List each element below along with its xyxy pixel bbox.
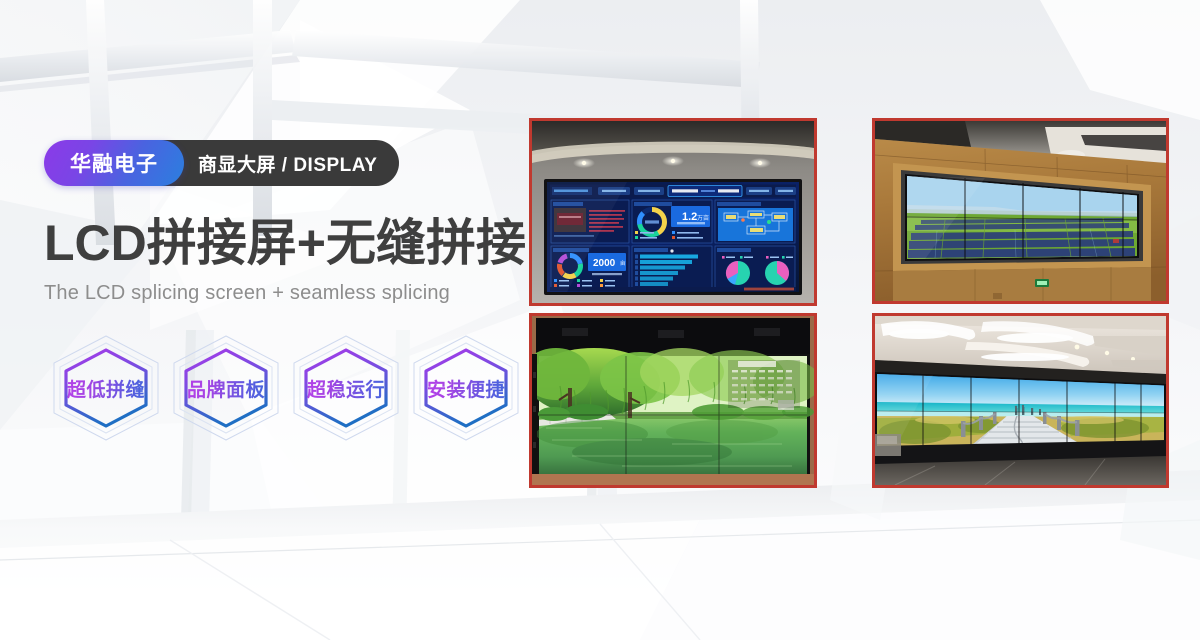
gallery-photo-park-wall bbox=[529, 313, 817, 488]
solar-wall-illustration bbox=[875, 121, 1166, 301]
dashboard-kpi-primary: 1.2 bbox=[682, 211, 697, 223]
feature-badge-label: 品牌面板 bbox=[168, 332, 284, 444]
feature-badge-label: 超低拼缝 bbox=[48, 332, 164, 444]
feature-badge: 安装便捷 bbox=[408, 332, 524, 444]
feature-badge-label: 超稳运行 bbox=[288, 332, 404, 444]
feature-badge: 品牌面板 bbox=[168, 332, 284, 444]
feature-badge: 超低拼缝 bbox=[48, 332, 164, 444]
park-wall-illustration bbox=[532, 316, 814, 485]
dashboard-kpi-secondary: 2000 bbox=[593, 258, 616, 269]
brand-pill: 华融电子 bbox=[44, 140, 184, 186]
feature-badge-list: 超低拼缝 品牌面板 bbox=[48, 332, 524, 444]
svg-text:万亩: 万亩 bbox=[697, 214, 709, 222]
gallery-photo-beach-wall bbox=[872, 313, 1169, 488]
page-title: LCD拼接屏+无缝拼接 bbox=[44, 216, 524, 270]
headline-block: 商显大屏 / DISPLAY 华融电子 LCD拼接屏+无缝拼接 The LCD … bbox=[44, 140, 524, 305]
gallery-photo-dashboard: 1.2 万亩 bbox=[529, 118, 817, 306]
feature-badge-label: 安装便捷 bbox=[408, 332, 524, 444]
beach-wall-illustration bbox=[875, 316, 1166, 485]
dashboard-wall-illustration: 1.2 万亩 bbox=[532, 121, 814, 303]
product-banner: 商显大屏 / DISPLAY 华融电子 LCD拼接屏+无缝拼接 The LCD … bbox=[0, 0, 1200, 640]
svg-text:亩: 亩 bbox=[620, 259, 626, 267]
gallery-photo-solar-wall bbox=[872, 118, 1169, 304]
feature-badge: 超稳运行 bbox=[288, 332, 404, 444]
brand-pill-row: 商显大屏 / DISPLAY 华融电子 bbox=[44, 140, 524, 186]
page-subtitle: The LCD splicing screen + seamless splic… bbox=[44, 282, 524, 305]
